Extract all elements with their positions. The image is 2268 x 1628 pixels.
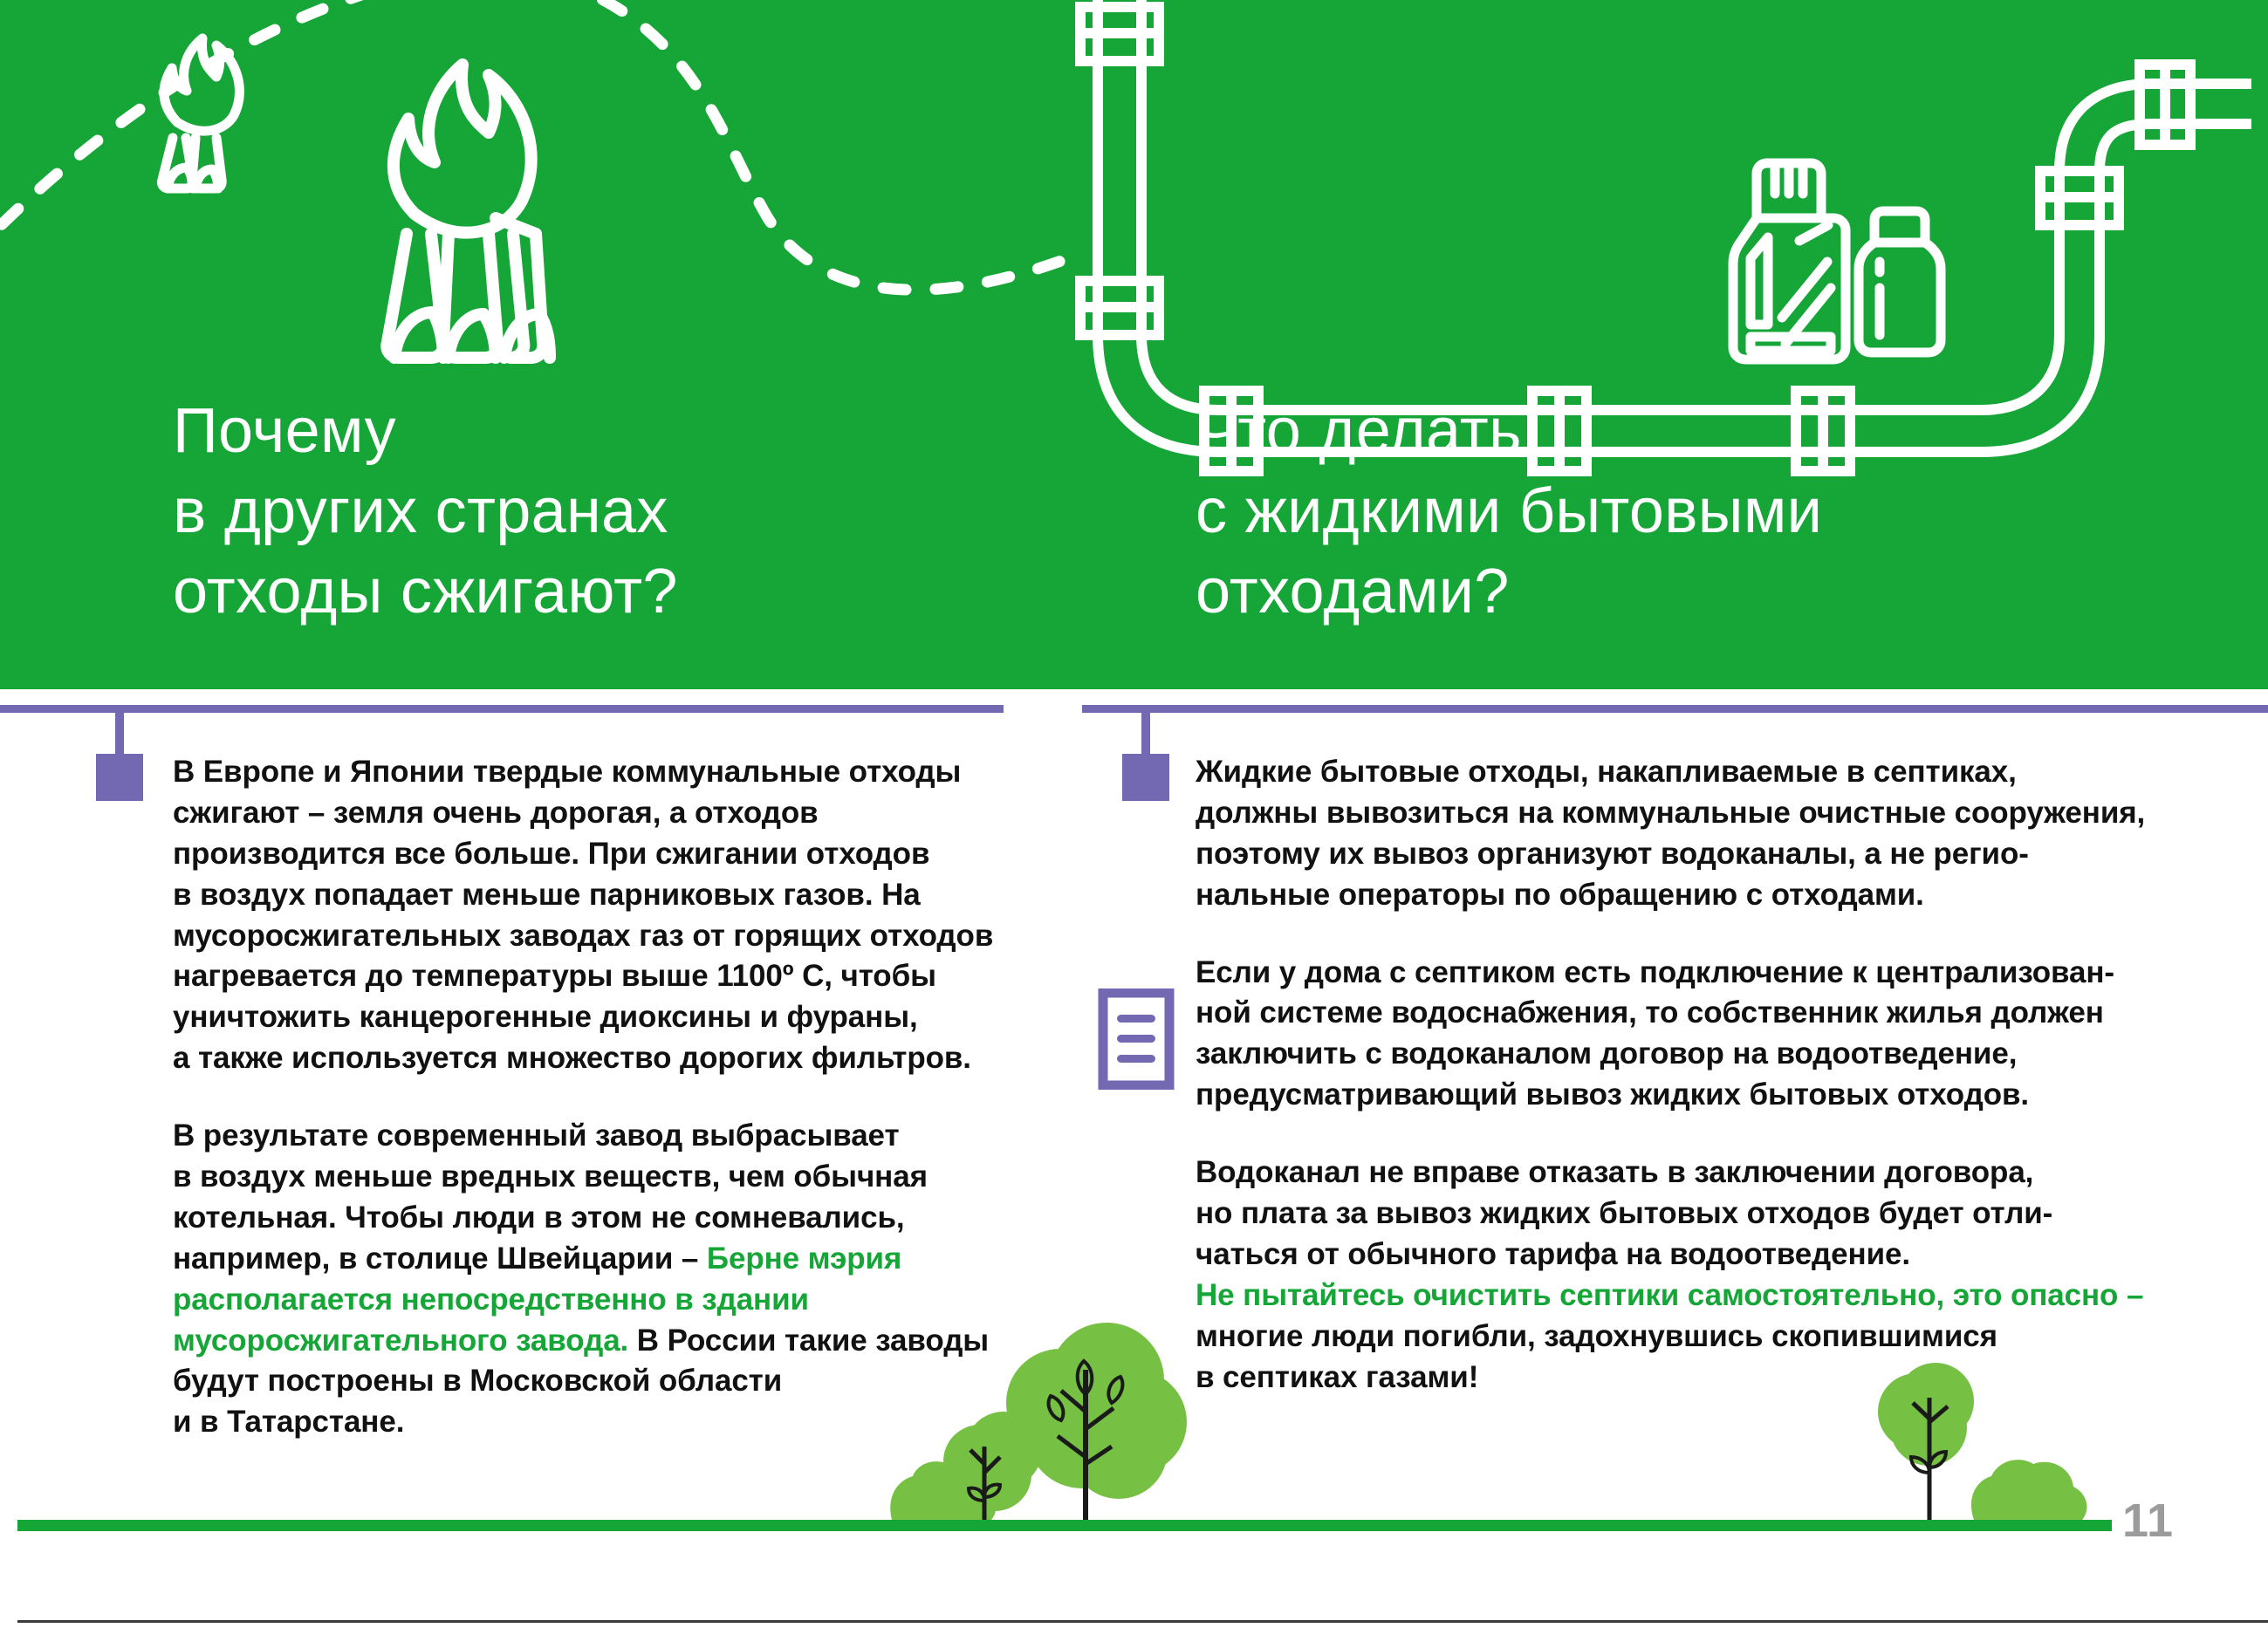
shrub-icon-right	[1971, 1460, 2087, 1520]
campfire-large-icon	[387, 65, 550, 358]
right-paragraph-3: Водоканал не вправе отказать в заключени…	[1196, 1153, 2182, 1398]
dotted-smoke-trail	[0, 0, 1082, 290]
right-paragraph-1: Жидкие бытовые отходы, накапливаемые в с…	[1196, 752, 2182, 916]
right-p3-highlight: Не пытайтесь очистить септики самостояте…	[1196, 1278, 2143, 1312]
bottle-icon	[1859, 211, 1941, 352]
ground-line	[17, 1520, 2112, 1531]
marker-stem-right	[1141, 705, 1150, 754]
left-white-margin	[0, 689, 17, 1628]
right-paragraph-2: Если у дома с септиком есть подключение …	[1196, 953, 2182, 1117]
page-number: 11	[2122, 1494, 2174, 1548]
left-paragraph-2: В результате современный завод выбрасыва…	[173, 1116, 1011, 1443]
canister-icon	[1733, 163, 1846, 359]
footer-divider	[17, 1620, 2268, 1623]
headline-right: Что делать с жидкими бытовыми отходами?	[1196, 391, 1822, 632]
left-paragraph-1: В Европе и Японии твердые коммунальные о…	[173, 752, 1011, 1079]
marker-square-right	[1122, 754, 1169, 801]
purple-rail-left	[0, 705, 1004, 713]
large-tree-icon	[1006, 1323, 1187, 1520]
document-lines-icon	[1098, 988, 1175, 1090]
headline-left: Почему в других странах отходы сжигают?	[173, 391, 678, 632]
left-text-column: В Европе и Японии твердые коммунальные о…	[173, 752, 1011, 1480]
marker-square-left	[96, 754, 143, 801]
green-banner: Почему в других странах отходы сжигают? …	[0, 0, 2268, 689]
marker-stem-left	[115, 705, 124, 754]
right-p3-text-b: многие люди погибли, задохнувшись скопив…	[1196, 1319, 1997, 1394]
purple-rail-right	[1082, 705, 2268, 713]
right-text-column: Жидкие бытовые отходы, накапливаемые в с…	[1196, 752, 2182, 1398]
right-p3-text-a: Водоканал не вправе отказать в заключени…	[1196, 1155, 2052, 1271]
campfire-small-icon	[161, 38, 239, 188]
